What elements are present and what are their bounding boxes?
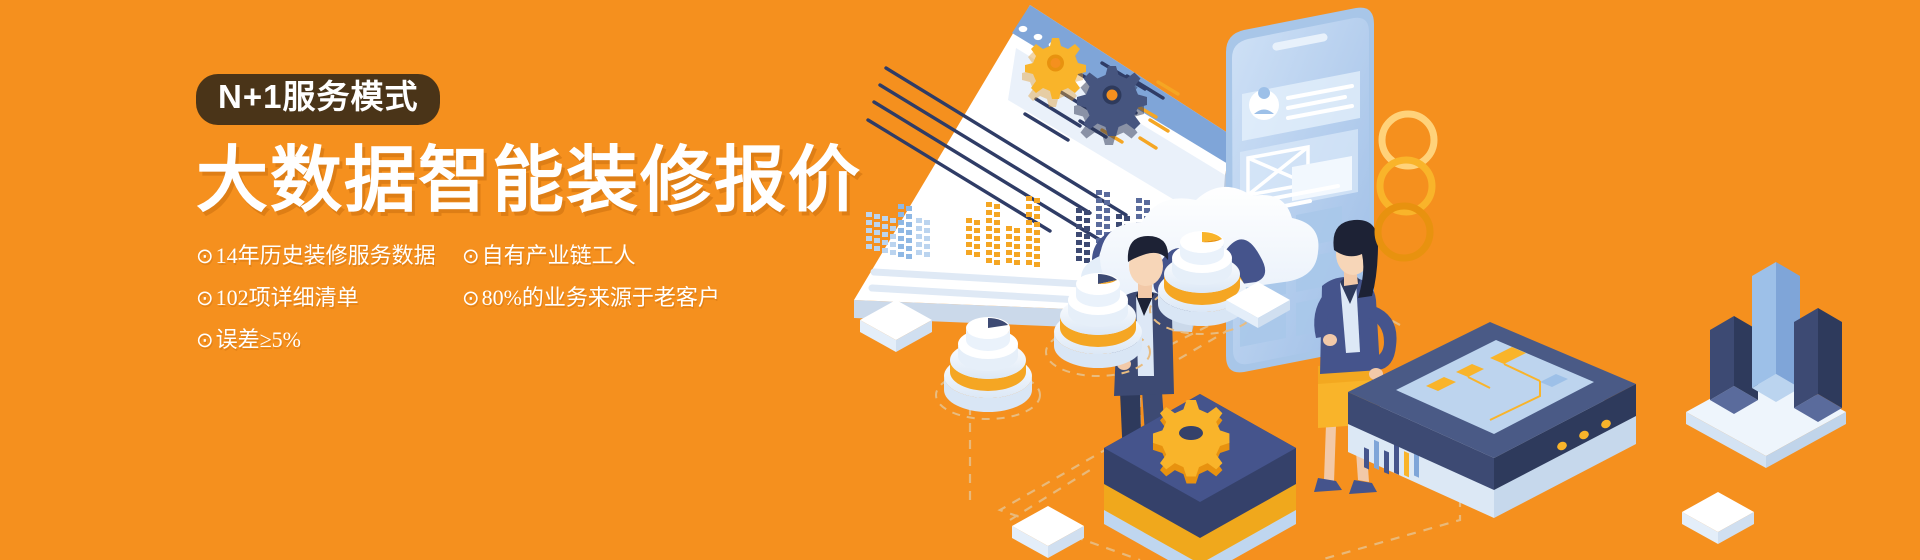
list-item: ⊙误差≥5% xyxy=(196,329,432,351)
page-title: 大数据智能装修报价 xyxy=(196,143,896,219)
gear-navy xyxy=(1074,66,1147,145)
list-item-label: 自有产业链工人 xyxy=(482,243,636,268)
isometric-illustration xyxy=(840,0,1920,560)
tile-white-2 xyxy=(1012,506,1084,558)
list-item: ⊙80%的业务来源于老客户 xyxy=(462,287,720,309)
pie-stack-1 xyxy=(936,317,1040,419)
feature-list: ⊙14年历史装修服务数据 ⊙102项详细清单 ⊙误差≥5% ⊙自有产业链工人 ⊙… xyxy=(196,245,896,371)
feature-column-left: ⊙14年历史装修服务数据 ⊙102项详细清单 ⊙误差≥5% xyxy=(196,245,432,371)
list-item-label: 102项详细清单 xyxy=(216,285,359,310)
list-item: ⊙自有产业链工人 xyxy=(462,245,720,267)
ring-stack xyxy=(1378,114,1434,258)
circled-dot-icon: ⊙ xyxy=(462,244,480,268)
circled-dot-icon: ⊙ xyxy=(196,286,214,310)
list-item: ⊙102项详细清单 xyxy=(196,287,432,309)
list-item-label: 误差≥5% xyxy=(216,327,301,352)
copy-block: N+1服务模式 大数据智能装修报价 ⊙14年历史装修服务数据 ⊙102项详细清单… xyxy=(196,74,896,371)
circled-dot-icon: ⊙ xyxy=(196,244,214,268)
promo-banner: N+1服务模式 大数据智能装修报价 ⊙14年历史装修服务数据 ⊙102项详细清单… xyxy=(0,0,1920,560)
circled-dot-icon: ⊙ xyxy=(462,286,480,310)
list-item: ⊙14年历史装修服务数据 xyxy=(196,245,432,267)
feature-column-right: ⊙自有产业链工人 ⊙80%的业务来源于老客户 xyxy=(462,245,720,371)
list-item-label: 14年历史装修服务数据 xyxy=(216,243,436,268)
bar-column-group xyxy=(1686,262,1846,468)
tile-white-3 xyxy=(1682,492,1754,544)
service-model-badge: N+1服务模式 xyxy=(196,74,440,125)
circled-dot-icon: ⊙ xyxy=(196,328,214,352)
list-item-label: 80%的业务来源于老客户 xyxy=(482,285,720,310)
